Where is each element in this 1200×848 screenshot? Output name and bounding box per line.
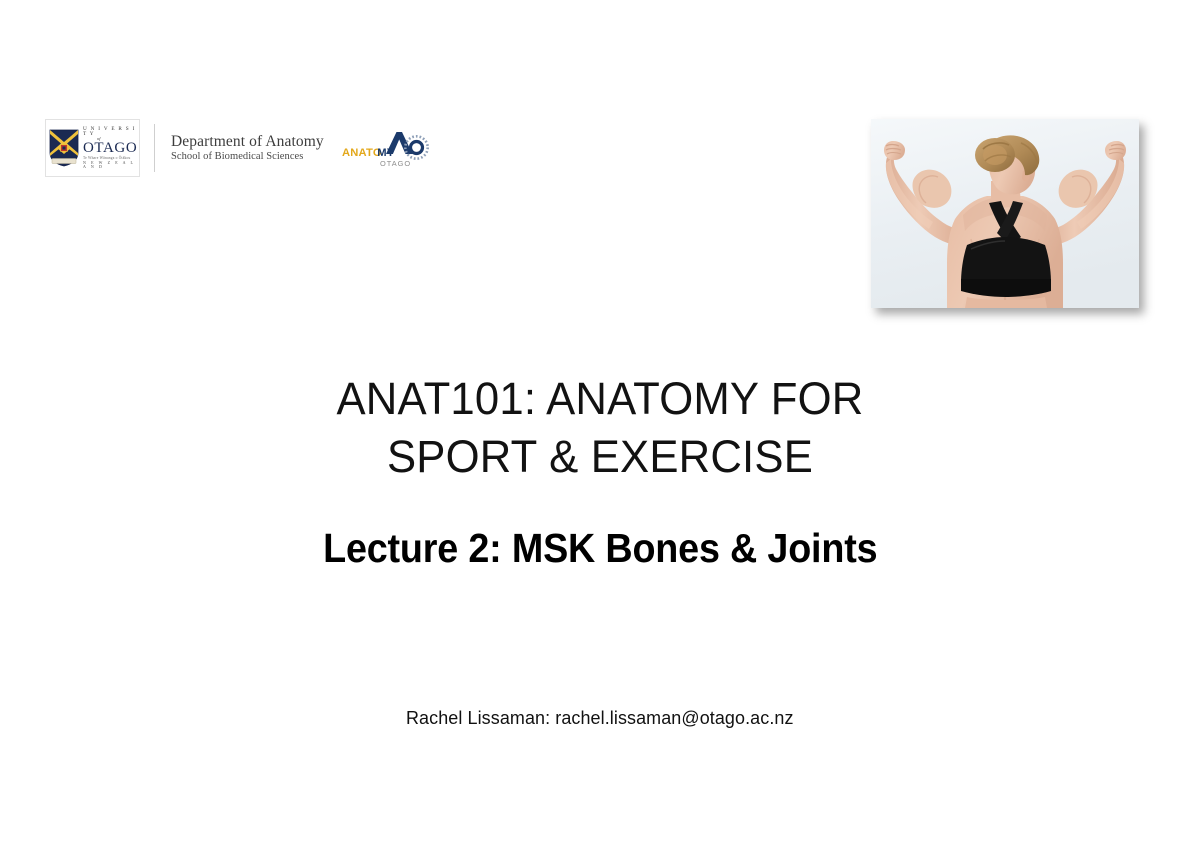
svg-text:OTAGO: OTAGO xyxy=(380,159,411,168)
slide-title: ANAT101: ANATOMY FOR SPORT & EXERCISE xyxy=(0,370,1200,485)
department-name: Department of Anatomy xyxy=(171,133,324,151)
school-name: School of Biomedical Sciences xyxy=(171,151,324,163)
department-block: Department of Anatomy School of Biomedic… xyxy=(171,133,324,164)
crest-university-label: U N I V E R S I T Y xyxy=(83,127,137,137)
slide-subtitle: Lecture 2: MSK Bones & Joints xyxy=(0,524,1200,573)
header-divider xyxy=(154,124,155,172)
svg-text:ANATO: ANATO xyxy=(342,147,382,159)
crest-name: OTAGO xyxy=(83,141,137,156)
anatomy-otago-logo: ANATO MY OTAGO xyxy=(342,124,434,172)
otago-wordmark: U N I V E R S I T Y of OTAGO Te Whare Wā… xyxy=(83,127,137,170)
lecture-title-slide: U N I V E R S I T Y of OTAGO Te Whare Wā… xyxy=(0,0,1200,848)
slide-title-line-1: ANAT101: ANATOMY FOR xyxy=(18,370,1182,428)
svg-text:MY: MY xyxy=(377,147,395,159)
presenter-line: Rachel Lissaman: rachel.lissaman@otago.a… xyxy=(0,707,1200,729)
photo-image xyxy=(871,119,1139,308)
slide-title-line-2: SPORT & EXERCISE xyxy=(18,428,1182,486)
branding-header: U N I V E R S I T Y of OTAGO Te Whare Wā… xyxy=(45,118,434,178)
presenter-text: Rachel Lissaman: rachel.lissaman@otago.a… xyxy=(406,707,794,729)
crest-country-label: N E W Z E A L A N D xyxy=(83,161,137,169)
lecture-hero-photo xyxy=(871,119,1139,308)
university-of-otago-logo: U N I V E R S I T Y of OTAGO Te Whare Wā… xyxy=(45,119,140,177)
slide-subtitle-text: Lecture 2: MSK Bones & Joints xyxy=(323,524,877,573)
otago-crest-icon xyxy=(49,129,79,167)
